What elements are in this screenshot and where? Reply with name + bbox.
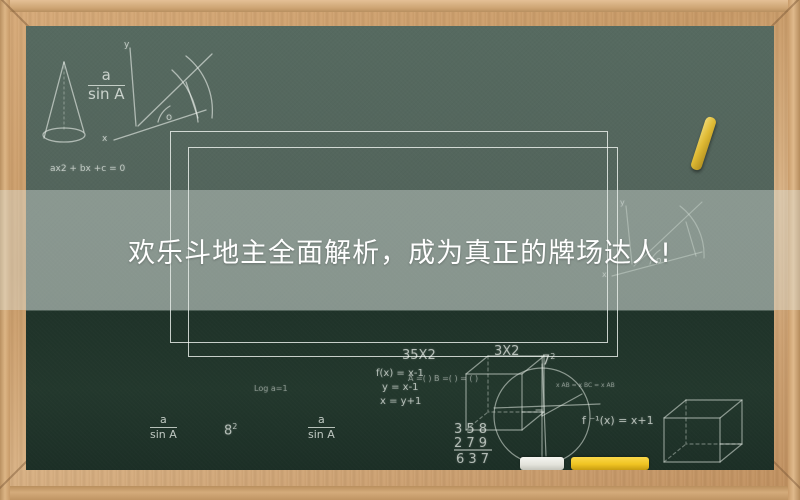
yellow-chalk-ledge-icon bbox=[571, 457, 649, 470]
frame-edge-top bbox=[0, 0, 800, 12]
chalkboard-poster: a sin A ax2 + bx +c = 0 y x o y x o f(x)… bbox=[0, 0, 800, 500]
frame-edge-bottom bbox=[0, 486, 800, 500]
page-title: 欢乐斗地主全面解析，成为真正的牌场达人! bbox=[0, 190, 800, 310]
white-chalk-icon bbox=[520, 457, 564, 470]
